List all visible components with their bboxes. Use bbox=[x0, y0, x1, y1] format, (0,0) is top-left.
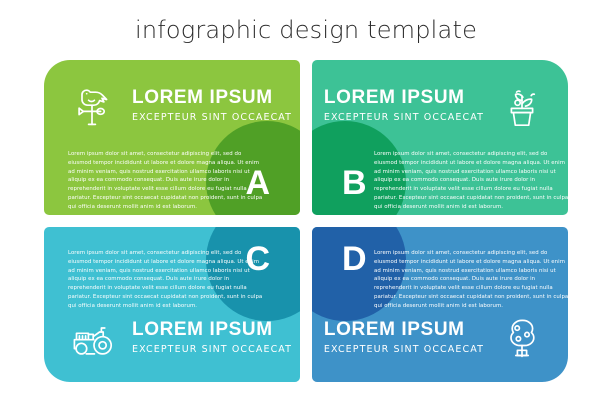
panel-card-a[interactable]: A LOREM IPSUM bbox=[44, 60, 300, 215]
letter-label-d: D bbox=[342, 242, 367, 276]
panel-a-body: Lorem ipsum dolor sit amet, consectetur … bbox=[68, 150, 264, 211]
panel-card-d[interactable]: D LOREM IPSUM EXCEPTEUR SINT OCC bbox=[312, 227, 568, 382]
panel-b-subtitle: EXCEPTEUR SINT OCCAECAT bbox=[324, 111, 484, 124]
panel-c-title: LOREM IPSUM bbox=[132, 320, 292, 340]
panel-b-titles: LOREM IPSUM EXCEPTEUR SINT OCCAECAT bbox=[324, 88, 484, 124]
panel-card-c[interactable]: C L bbox=[44, 227, 300, 382]
letter-label-b: B bbox=[342, 166, 367, 200]
panel-c-header: LOREM IPSUM EXCEPTEUR SINT OCCAECAT bbox=[68, 312, 292, 364]
page-title: infographic design template bbox=[0, 16, 612, 44]
panel-d-titles: LOREM IPSUM EXCEPTEUR SINT OCCAECAT bbox=[324, 320, 484, 356]
weather-vane-rooster-icon bbox=[68, 80, 120, 132]
panel-d-header: LOREM IPSUM EXCEPTEUR SINT OCCAECAT bbox=[324, 312, 548, 364]
panel-a-titles: LOREM IPSUM EXCEPTEUR SINT OCCAECAT bbox=[132, 88, 292, 124]
panel-a-subtitle: EXCEPTEUR SINT OCCAECAT bbox=[132, 111, 292, 124]
panel-c-titles: LOREM IPSUM EXCEPTEUR SINT OCCAECAT bbox=[132, 320, 292, 356]
potted-plant-icon bbox=[496, 80, 548, 132]
tractor-icon bbox=[68, 312, 120, 364]
infographic-canvas: infographic design template A bbox=[0, 0, 612, 411]
fruit-tree-icon bbox=[496, 312, 548, 364]
panel-a-title: LOREM IPSUM bbox=[132, 88, 292, 108]
panel-c-body: Lorem ipsum dolor sit amet, consectetur … bbox=[68, 249, 264, 310]
panel-d-title: LOREM IPSUM bbox=[324, 320, 465, 340]
panel-b-title: LOREM IPSUM bbox=[324, 88, 465, 108]
panel-d-body: Lorem ipsum dolor sit amet, consectetur … bbox=[374, 249, 568, 310]
panel-a-header: LOREM IPSUM EXCEPTEUR SINT OCCAECAT bbox=[68, 80, 292, 132]
panel-b-header: LOREM IPSUM EXCEPTEUR SINT OCCAECAT bbox=[324, 80, 548, 132]
panel-card-b[interactable]: B LOREM IPSUM EXCEP bbox=[312, 60, 568, 215]
panel-d-subtitle: EXCEPTEUR SINT OCCAECAT bbox=[324, 343, 484, 356]
panel-grid: A LOREM IPSUM bbox=[44, 60, 568, 385]
panel-c-subtitle: EXCEPTEUR SINT OCCAECAT bbox=[132, 343, 292, 356]
panel-b-body: Lorem ipsum dolor sit amet, consectetur … bbox=[374, 150, 568, 211]
